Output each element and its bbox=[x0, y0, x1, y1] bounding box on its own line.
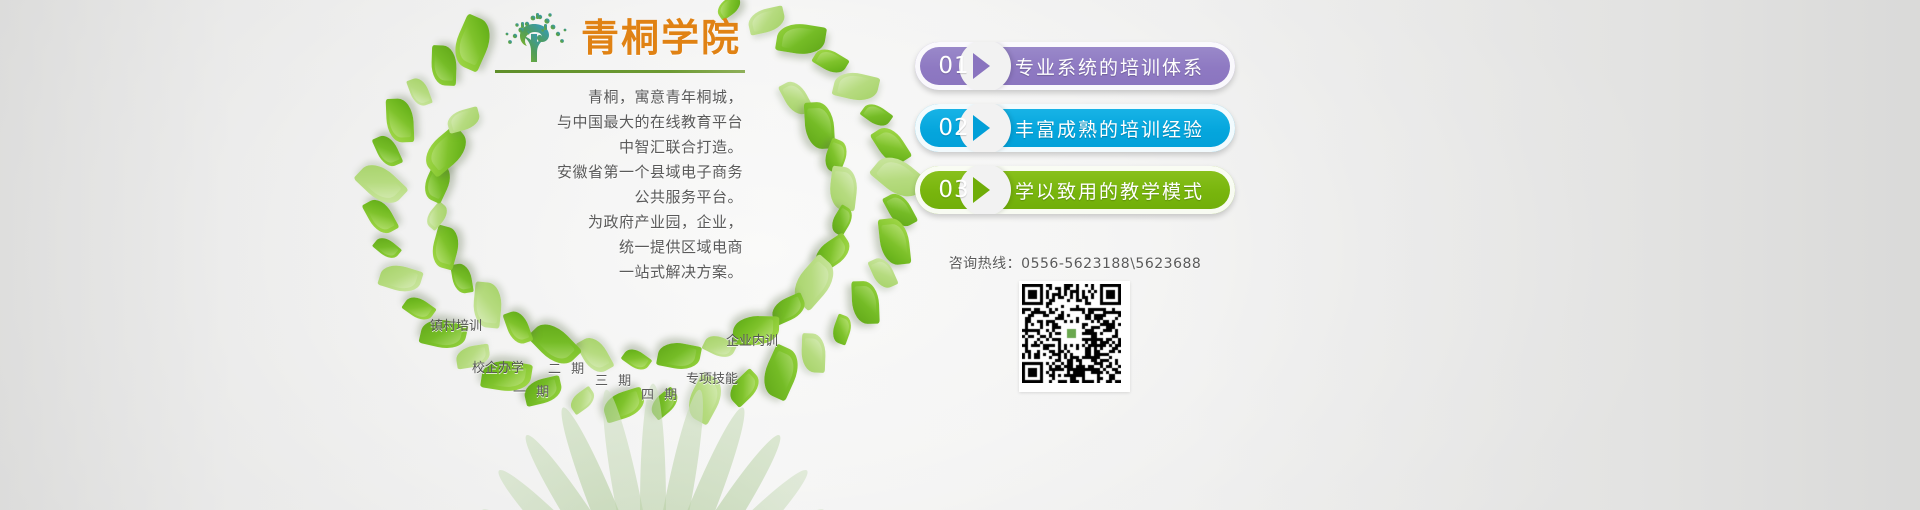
feature-badge-03[interactable]: 03 学以致用的教学模式 bbox=[915, 166, 1235, 214]
grass-blade bbox=[516, 428, 664, 510]
phase-label-2: 二 期 bbox=[548, 358, 587, 377]
brand-intro-line-6: 为政府产业园，企业， bbox=[495, 210, 743, 235]
category-label-zhuanxiang: 专项技能 bbox=[686, 368, 738, 387]
leaf-shape bbox=[445, 106, 482, 134]
feature-badge-01[interactable]: 01 专业系统的培训体系 bbox=[915, 42, 1235, 90]
feature-badge-02[interactable]: 02 丰富成熟的培训经验 bbox=[915, 104, 1235, 152]
phase-label-4: 四 期 bbox=[641, 384, 680, 403]
badge-number-02: 02 bbox=[915, 104, 993, 152]
brand-intro-line-2: 与中国最大的在线教育平台 bbox=[495, 110, 743, 135]
brand-intro-line-5: 公共服务平台。 bbox=[495, 185, 743, 210]
phase-label-1: 一 期 bbox=[513, 381, 552, 400]
badge-text-02: 丰富成熟的培训经验 bbox=[1015, 115, 1204, 142]
leaf-shape bbox=[851, 281, 879, 325]
tree-icon bbox=[495, 10, 573, 66]
grass-blade bbox=[474, 500, 660, 510]
leaf-shape bbox=[801, 333, 826, 373]
grass-blade bbox=[642, 428, 790, 510]
category-label-zhencun: 镇村培训 bbox=[430, 315, 482, 334]
badge-text-03: 学以致用的教学模式 bbox=[1015, 177, 1204, 204]
leaf-shape bbox=[406, 75, 433, 108]
brand-intro-line-3: 中智汇联合打造。 bbox=[495, 135, 743, 160]
badge-text-01: 专业系统的培训体系 bbox=[1015, 53, 1204, 80]
grass-blade bbox=[490, 461, 663, 510]
leaf-shape bbox=[386, 98, 415, 143]
brand-title: 青桐学院 bbox=[581, 10, 741, 66]
brand-divider bbox=[495, 70, 745, 73]
feature-badge-list: 01 专业系统的培训体系 02 丰富成熟的培训经验 03 学以致用的教学模式 bbox=[915, 42, 1235, 228]
badge-number-03: 03 bbox=[915, 166, 993, 214]
category-label-xiaoqi: 校企办学 bbox=[472, 357, 524, 376]
leaf-shape bbox=[430, 45, 456, 86]
leaf-shape bbox=[372, 234, 402, 263]
leaf-shape bbox=[503, 308, 534, 347]
hotline-text: 咨询热线：0556-5623188\5623688 bbox=[915, 253, 1235, 273]
leaf-shape bbox=[832, 68, 881, 104]
brand-intro-line-1: 青桐，寓意青年桐城， bbox=[495, 85, 743, 110]
brand-intro-line-7: 统一提供区域电商 bbox=[495, 235, 743, 260]
badge-number-01: 01 bbox=[915, 42, 993, 90]
grass-blade bbox=[646, 500, 832, 510]
qr-code[interactable] bbox=[1019, 281, 1130, 392]
leaf-shape bbox=[756, 343, 805, 401]
brand-intro: 青桐，寓意青年桐城，与中国最大的在线教育平台中智汇联合打造。安徽省第一个县域电子… bbox=[495, 85, 743, 285]
leaf-shape bbox=[859, 99, 893, 130]
category-label-qiye: 企业内训 bbox=[726, 330, 778, 349]
leaf-shape bbox=[451, 262, 475, 295]
banner-canvas: 青桐学院 青桐，寓意青年桐城，与中国最大的在线教育平台中智汇联合打造。安徽省第一… bbox=[0, 0, 1920, 510]
brand-intro-line-8: 一站式解决方案。 bbox=[495, 260, 743, 285]
leaf-shape bbox=[829, 313, 855, 345]
leaf-shape bbox=[567, 385, 599, 414]
brand-intro-line-4: 安徽省第一个县域电子商务 bbox=[495, 160, 743, 185]
leaf-shape bbox=[377, 261, 424, 297]
grass-blade bbox=[644, 461, 817, 510]
phase-label-3: 三 期 bbox=[595, 370, 634, 389]
brand-block: 青桐学院 青桐，寓意青年桐城，与中国最大的在线教育平台中智汇联合打造。安徽省第一… bbox=[495, 8, 755, 285]
leaf-shape bbox=[418, 124, 474, 178]
